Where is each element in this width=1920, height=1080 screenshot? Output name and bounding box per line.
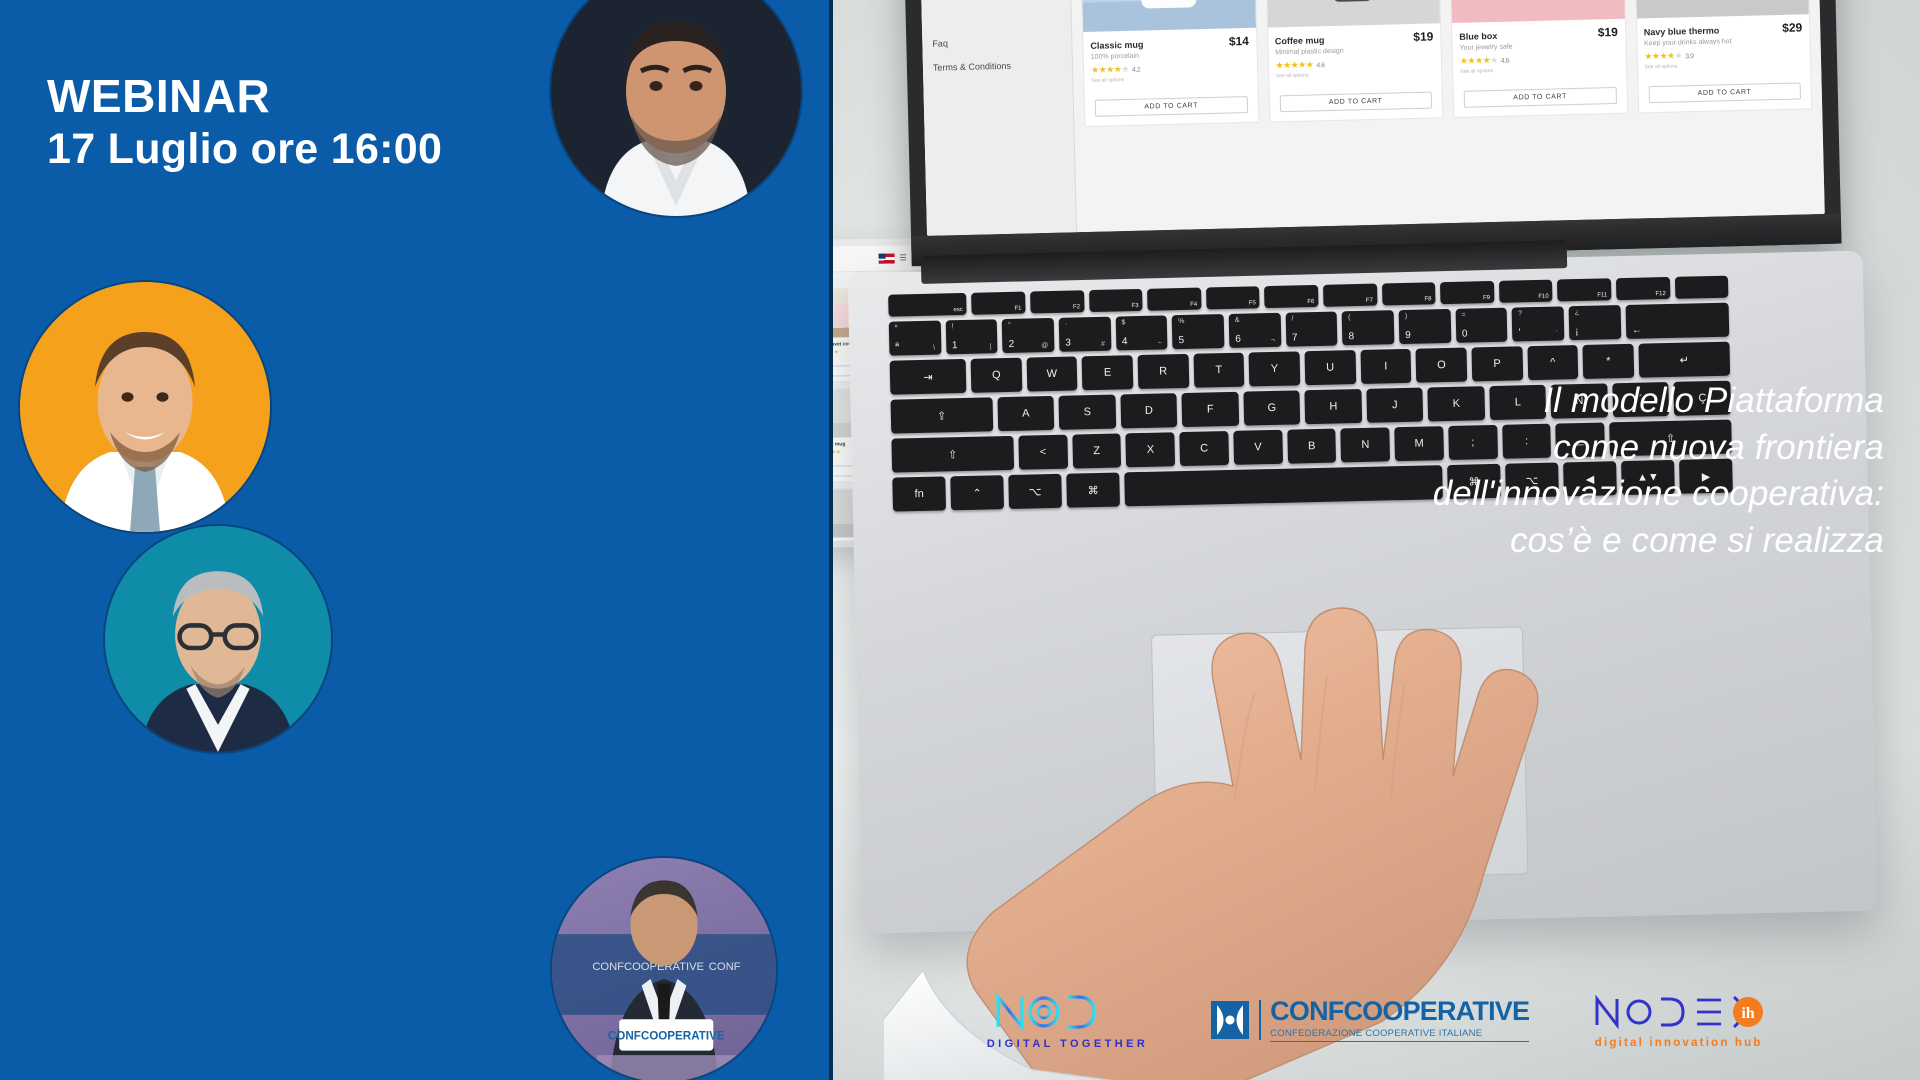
product-thumbnail (1265, 0, 1440, 28)
product-price: $29 (1782, 20, 1802, 34)
speaker-avatar-teal (105, 526, 331, 752)
shop-sidebar-footer: FaqTerms & Conditions (922, 28, 1072, 80)
shop-sidebar-footer-item[interactable]: Faq (922, 28, 1072, 56)
speaker-portrait-navy (551, 0, 801, 216)
add-to-cart-button[interactable]: ADD TO CART (1279, 92, 1432, 113)
confcooperative-logo: CONFCOOPERATIVE CONFEDERAZIONE COOPERATI… (1210, 998, 1529, 1042)
keyboard-key[interactable]: * (1583, 344, 1634, 379)
keyboard-key[interactable]: F3 (1089, 289, 1143, 312)
speaker-avatar-purple: CONFCOOPERATIVE CONF CONFCOOPERATIVE (552, 858, 776, 1080)
product-rating-value: 4.6 (1501, 58, 1509, 65)
webinar-date-time: 17 Luglio ore 16:00 (47, 124, 442, 175)
keyboard-key[interactable]: =0 (1455, 308, 1507, 343)
speaker-avatar-orange (20, 282, 270, 532)
panel-divider (829, 0, 833, 1080)
keyboard-key[interactable]: ← (1625, 303, 1729, 339)
keyboard-key[interactable]: F4 (1147, 288, 1201, 311)
webinar-promo-canvas: Shop ☰ ● cart (0) Sofa and couch$299★★★★… (0, 0, 1920, 1080)
keyboard-key[interactable]: F10 (1499, 280, 1553, 303)
node-tagline: DIGITAL TOGETHER (987, 1038, 1148, 1050)
product-price: $14 (1229, 34, 1249, 48)
product-card[interactable]: Classic mug$14100% porcelain★★★★★4.2See … (1080, 0, 1259, 127)
product-subtitle: Keep your drinks always hot (1644, 36, 1803, 47)
product-name: Blue box (1459, 31, 1497, 42)
keyboard-key[interactable]: &6¬ (1229, 313, 1281, 348)
shop-product-grid: Sofa and couch$299All blue with yellow c… (1065, 0, 1825, 232)
svg-text:CONF: CONF (709, 961, 741, 973)
speaker-portrait-teal (105, 526, 331, 752)
keyboard-key[interactable]: E (1082, 355, 1133, 390)
keyboard-key[interactable]: (8 (1342, 310, 1394, 345)
add-to-cart-button[interactable]: ADD TO CART (1095, 96, 1248, 117)
keyboard-key[interactable]: S (1059, 395, 1116, 430)
tablet-product-name: Coffee mug (833, 441, 845, 447)
keyboard-key[interactable]: F5 (1206, 286, 1260, 309)
keyboard-key[interactable]: ºª\ (889, 321, 941, 356)
keyboard-key[interactable]: W (1026, 356, 1077, 391)
product-subtitle: Minimal plastic design (1275, 45, 1434, 56)
keyboard-key[interactable]: ·3# (1059, 317, 1111, 352)
headline-line: dell'innovazione cooperativa: (1364, 471, 1884, 518)
see-all-options-link[interactable]: See all options (1460, 65, 1619, 75)
node-dih-wordmark-glyphs: ih (1591, 992, 1766, 1032)
keyboard-key[interactable]: F1 (971, 292, 1025, 315)
product-rating-value: 3.9 (1685, 53, 1693, 60)
node-dih-logo: ih digital innovation hub (1591, 992, 1766, 1049)
webinar-headline: Il modello Piattaformacome nuova frontie… (1364, 378, 1884, 564)
shop-app: Home & AccessoriesBeautySpecialsKidsBook… (915, 0, 1825, 236)
add-to-cart-button[interactable]: ADD TO CART (1648, 83, 1801, 104)
product-card[interactable]: Coffee mug$19Minimal plastic design★★★★★… (1264, 0, 1443, 123)
confcooperative-tagline: CONFEDERAZIONE COOPERATIVE ITALIANE (1270, 1028, 1529, 1042)
node-dih-badge: ih (1742, 1005, 1755, 1022)
keyboard-key[interactable]: ^ (1527, 345, 1578, 380)
keyboard-key[interactable]: R (1138, 354, 1189, 389)
logo-bar: DIGITAL TOGETHER CONFCOOPERATIVE CONFEDE… (833, 960, 1920, 1080)
speaker-portrait-orange (20, 282, 270, 532)
product-name: Coffee mug (1275, 35, 1325, 46)
product-rating-value: 4.2 (1132, 67, 1140, 74)
keyboard-key[interactable]: P (1471, 346, 1522, 381)
see-all-options-link[interactable]: See all options (1276, 69, 1435, 79)
keyboard-key[interactable]: F9 (1440, 281, 1494, 304)
speaker-avatar-navy (551, 0, 801, 216)
speaker-portrait-purple: CONFCOOPERATIVE CONF CONFCOOPERATIVE (552, 858, 776, 1080)
keyboard-key[interactable]: F (1182, 392, 1239, 427)
product-card[interactable]: Navy blue thermo$29Keep your drinks alwa… (1633, 0, 1812, 113)
product-name: Classic mug (1090, 40, 1143, 51)
keyboard-key[interactable]: G (1243, 390, 1300, 425)
product-rating-value: 4.6 (1316, 62, 1324, 69)
keyboard-key[interactable]: Q (971, 358, 1022, 393)
keyboard-key[interactable]: $4~ (1115, 315, 1167, 350)
keyboard-key[interactable]: esc (888, 293, 967, 317)
node-dih-tagline: digital innovation hub (1595, 1037, 1763, 1049)
product-price: $19 (1598, 25, 1618, 39)
node-wordmark-glyphs (992, 991, 1142, 1033)
node-digital-together-logo: DIGITAL TOGETHER (987, 991, 1148, 1050)
keyboard-key[interactable]: Y (1249, 351, 1300, 386)
add-to-cart-button[interactable]: ADD TO CART (1464, 87, 1617, 108)
keyboard-key[interactable]: )9 (1399, 309, 1451, 344)
product-subtitle: 100% porcelain (1091, 50, 1250, 61)
product-thumbnail (1081, 0, 1256, 32)
keyboard-key[interactable]: ⇪ (891, 397, 993, 433)
headline-line: come nuova frontiera (1364, 425, 1884, 472)
confcooperative-wordmark: CONFCOOPERATIVE (1270, 998, 1529, 1025)
tablet-menu-icon[interactable]: ☰ (900, 253, 907, 262)
product-subtitle: Your jewelry safe (1460, 41, 1619, 52)
keyboard-key[interactable]: D (1120, 393, 1177, 428)
node-dih-wordmark: ih (1591, 992, 1766, 1032)
keyboard-key[interactable]: "2@ (1002, 318, 1054, 353)
keyboard-key[interactable]: A (997, 396, 1054, 431)
keyboard-key[interactable]: /7 (1285, 312, 1337, 347)
keyboard-key[interactable]: ⇥ (890, 359, 967, 395)
product-card[interactable]: Blue box$19Your jewelry safe★★★★★4.6See … (1449, 0, 1628, 118)
keyboard-key[interactable]: H (1305, 389, 1362, 424)
keyboard-key[interactable]: T (1193, 353, 1244, 388)
keyboard-key[interactable]: F11 (1557, 278, 1611, 301)
keyboard-key[interactable]: F7 (1323, 284, 1377, 307)
svg-text:CONFCOOPERATIVE: CONFCOOPERATIVE (608, 1029, 725, 1042)
laptop-lid: Home & AccessoriesBeautySpecialsKidsBook… (898, 0, 1841, 266)
keyboard-key[interactable]: U (1304, 350, 1355, 385)
keyboard-key[interactable]: !1| (945, 319, 997, 354)
webinar-label: WEBINAR (47, 72, 442, 122)
laptop-screen: Home & AccessoriesBeautySpecialsKidsBook… (915, 0, 1825, 236)
keyboard-key[interactable]: F2 (1030, 290, 1084, 313)
keyboard-key[interactable]: %5 (1172, 314, 1224, 349)
keyboard-key[interactable]: F6 (1264, 285, 1318, 308)
product-name: Navy blue thermo (1644, 25, 1720, 37)
confcooperative-mark-icon (1210, 1000, 1250, 1040)
webinar-heading-block: WEBINAR 17 Luglio ore 16:00 (47, 72, 442, 174)
svg-text:CONFCOOPERATIVE: CONFCOOPERATIVE (592, 961, 704, 973)
headline-line: Il modello Piattaforma (1364, 378, 1884, 425)
keyboard-key[interactable]: F8 (1382, 282, 1436, 305)
see-all-options-link[interactable]: See all options (1091, 74, 1250, 84)
shop-sidebar-footer-item[interactable]: Terms & Conditions (923, 52, 1073, 80)
headline-line: cos’è e come si realizza (1364, 518, 1884, 565)
keyboard-key[interactable] (1674, 276, 1728, 299)
see-all-options-link[interactable]: See all options (1645, 60, 1804, 70)
us-flag-icon (879, 253, 895, 263)
product-price: $19 (1413, 29, 1433, 43)
keyboard-key[interactable]: ?'´ (1512, 306, 1564, 341)
keyboard-key[interactable]: F12 (1616, 277, 1670, 300)
keyboard-key[interactable]: ¿¡ (1569, 305, 1621, 340)
shop-sidebar: Home & AccessoriesBeautySpecialsKidsBook… (915, 0, 1077, 236)
node-wordmark (992, 991, 1142, 1033)
keyboard-key[interactable]: ↵ (1638, 342, 1730, 378)
